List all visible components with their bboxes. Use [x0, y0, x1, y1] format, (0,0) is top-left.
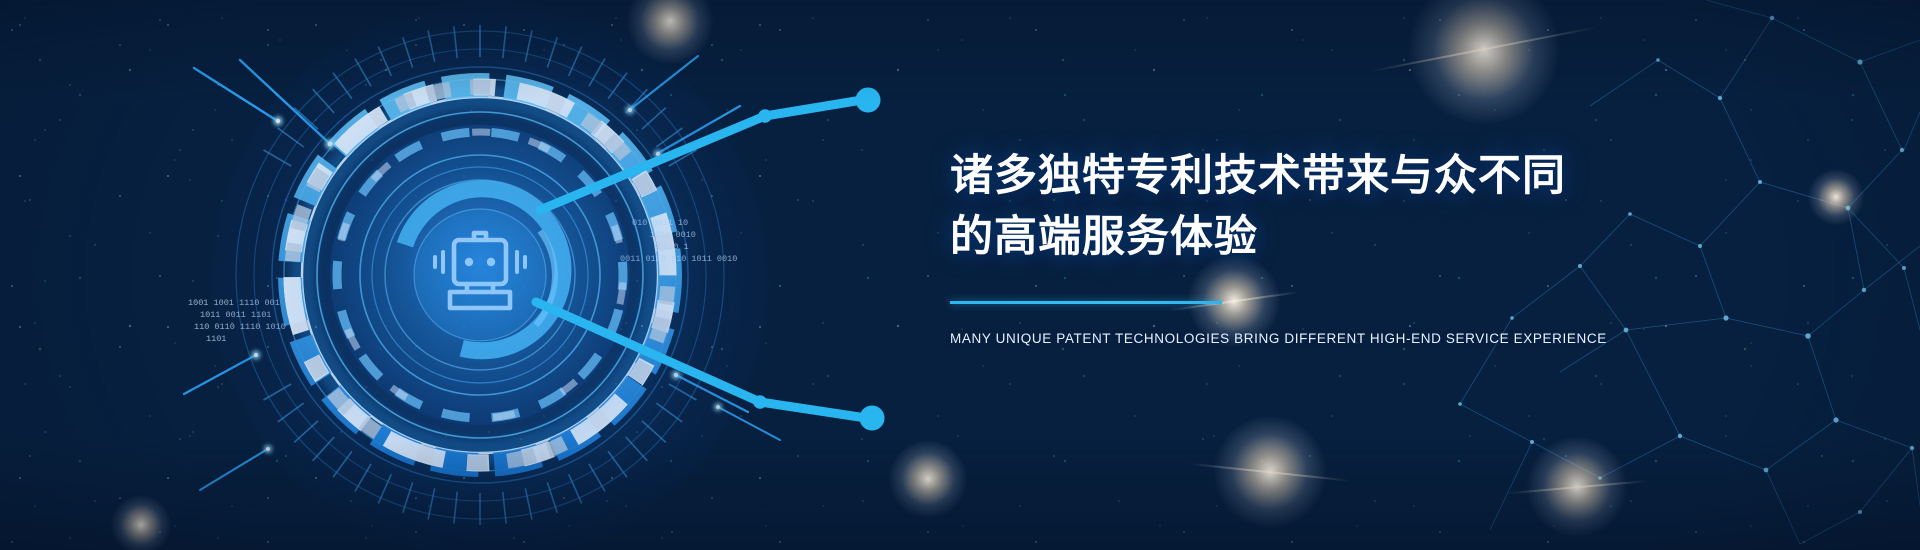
hero-copy-block: 诸多独特专利技术带来与众不同 的高端服务体验 MANY UNIQUE PATEN…	[950, 146, 1770, 346]
connector-lines	[0, 0, 1000, 550]
hero-banner: 1001 1001 1110 001 1011 0011 1101 110 01…	[0, 0, 1920, 550]
subtitle-english: MANY UNIQUE PATENT TECHNOLOGIES BRING DI…	[950, 331, 1770, 346]
title-divider	[950, 301, 1222, 304]
connector-upper	[540, 88, 880, 210]
connector-lower	[536, 302, 884, 430]
page-title: 诸多独特专利技术带来与众不同 的高端服务体验	[950, 146, 1770, 268]
